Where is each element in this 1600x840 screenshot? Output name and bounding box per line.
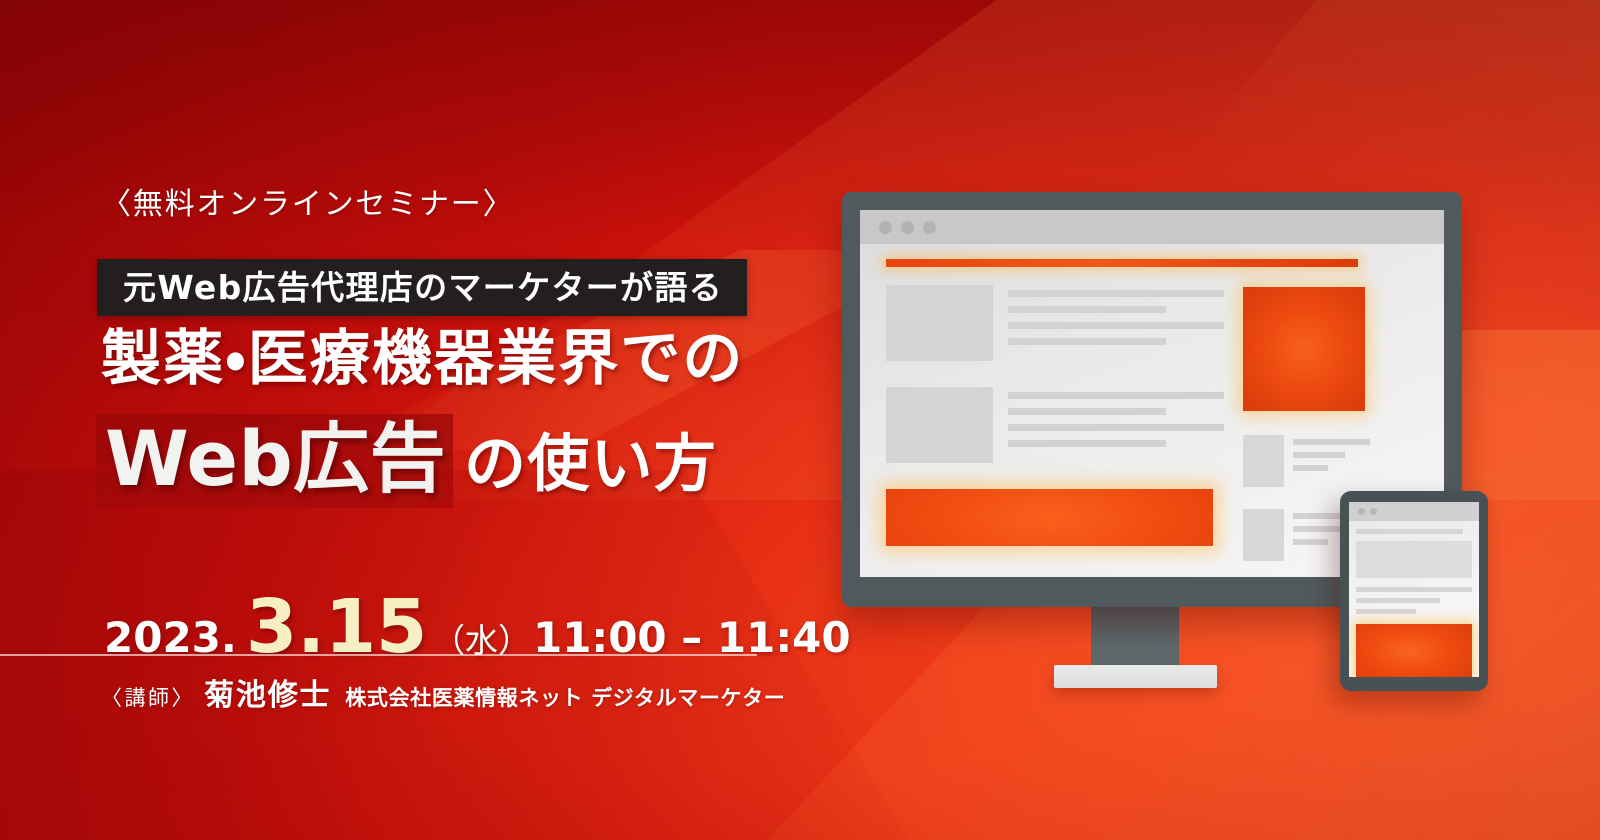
- browser-dot-icon-1: [879, 221, 892, 234]
- article-thumbnail: [886, 387, 993, 463]
- text-line: [1293, 526, 1345, 532]
- tablet-hero-block: [1356, 541, 1472, 578]
- tablet-banner-ad: [1356, 624, 1472, 677]
- event-day: 3.15: [246, 584, 427, 670]
- article-text-lines: [1008, 285, 1224, 361]
- browser-dot-icon-2: [901, 221, 914, 234]
- title-line-1: 製薬・医療機器業界での: [101, 329, 745, 389]
- text-line: [1008, 290, 1224, 297]
- tablet-screen: [1349, 502, 1479, 677]
- tablet-dot-icon-1: [1358, 508, 1365, 515]
- article-item: [886, 285, 1224, 361]
- text-line: [1008, 440, 1166, 447]
- banner-text-column: 〈無料オンラインセミナー〉 元Web広告代理店のマーケターが語る 製薬・医療機器…: [0, 0, 840, 840]
- devices-illustration: [820, 150, 1600, 710]
- cta-banner-ad: [886, 489, 1213, 546]
- sidebar-list-item: [1243, 435, 1370, 487]
- article-text-lines: [1008, 387, 1224, 463]
- text-line: [1356, 529, 1463, 534]
- text-line: [1293, 539, 1328, 545]
- speaker-name: 菊池修士: [204, 670, 331, 714]
- title-line-2: Web広告 の使い方: [96, 414, 717, 508]
- text-line: [1356, 587, 1472, 592]
- title-highlight: Web広告: [96, 414, 453, 508]
- text-line: [1008, 392, 1224, 399]
- seminar-kicker: 〈無料オンラインセミナー〉: [101, 179, 514, 223]
- speaker-affiliation: 株式会社医薬情報ネット デジタルマーケター: [345, 682, 785, 712]
- section-divider: [0, 654, 757, 656]
- article-thumbnail: [886, 285, 993, 361]
- sidebar-thumbnail: [1243, 509, 1284, 561]
- tablet-device: [1340, 491, 1488, 691]
- sidebar-thumbnail: [1243, 435, 1284, 487]
- monitor-stand-base: [1054, 665, 1217, 688]
- subhead-label: 元Web広告代理店のマーケターが語る: [123, 271, 723, 304]
- browser-dot-icon-3: [923, 221, 936, 234]
- text-line: [1008, 306, 1166, 313]
- text-line: [1356, 598, 1440, 603]
- tablet-browser-titlebar: [1349, 502, 1479, 521]
- text-line: [1293, 452, 1345, 458]
- sidebar-text-lines: [1293, 435, 1370, 487]
- sidebar-square-ad: [1243, 287, 1365, 411]
- text-line: [1008, 424, 1224, 431]
- page-accent-rule: [886, 259, 1358, 267]
- text-line: [1356, 609, 1416, 614]
- speaker-role-label: 〈講師〉: [101, 682, 195, 712]
- subhead-badge: 元Web広告代理店のマーケターが語る: [97, 259, 747, 316]
- event-date-line: 2023. 3.15 （水） 11:00 – 11:40: [104, 584, 851, 646]
- text-line: [1293, 465, 1328, 471]
- text-line: [1008, 408, 1166, 415]
- page-main-column: [886, 285, 1224, 577]
- text-line: [1293, 439, 1370, 445]
- seminar-banner: 〈無料オンラインセミナー〉 元Web広告代理店のマーケターが語る 製薬・医療機器…: [0, 0, 1600, 840]
- monitor-stand-neck: [1091, 607, 1179, 669]
- tablet-dot-icon-2: [1370, 508, 1377, 515]
- speaker-line: 〈講師〉 菊池修士 株式会社医薬情報ネット デジタルマーケター: [101, 670, 785, 714]
- text-line: [1008, 322, 1224, 329]
- article-item: [886, 387, 1224, 463]
- browser-titlebar: [860, 210, 1444, 244]
- tablet-page-content: [1349, 521, 1479, 677]
- text-line: [1008, 338, 1166, 345]
- title-remainder: の使い方: [464, 433, 717, 495]
